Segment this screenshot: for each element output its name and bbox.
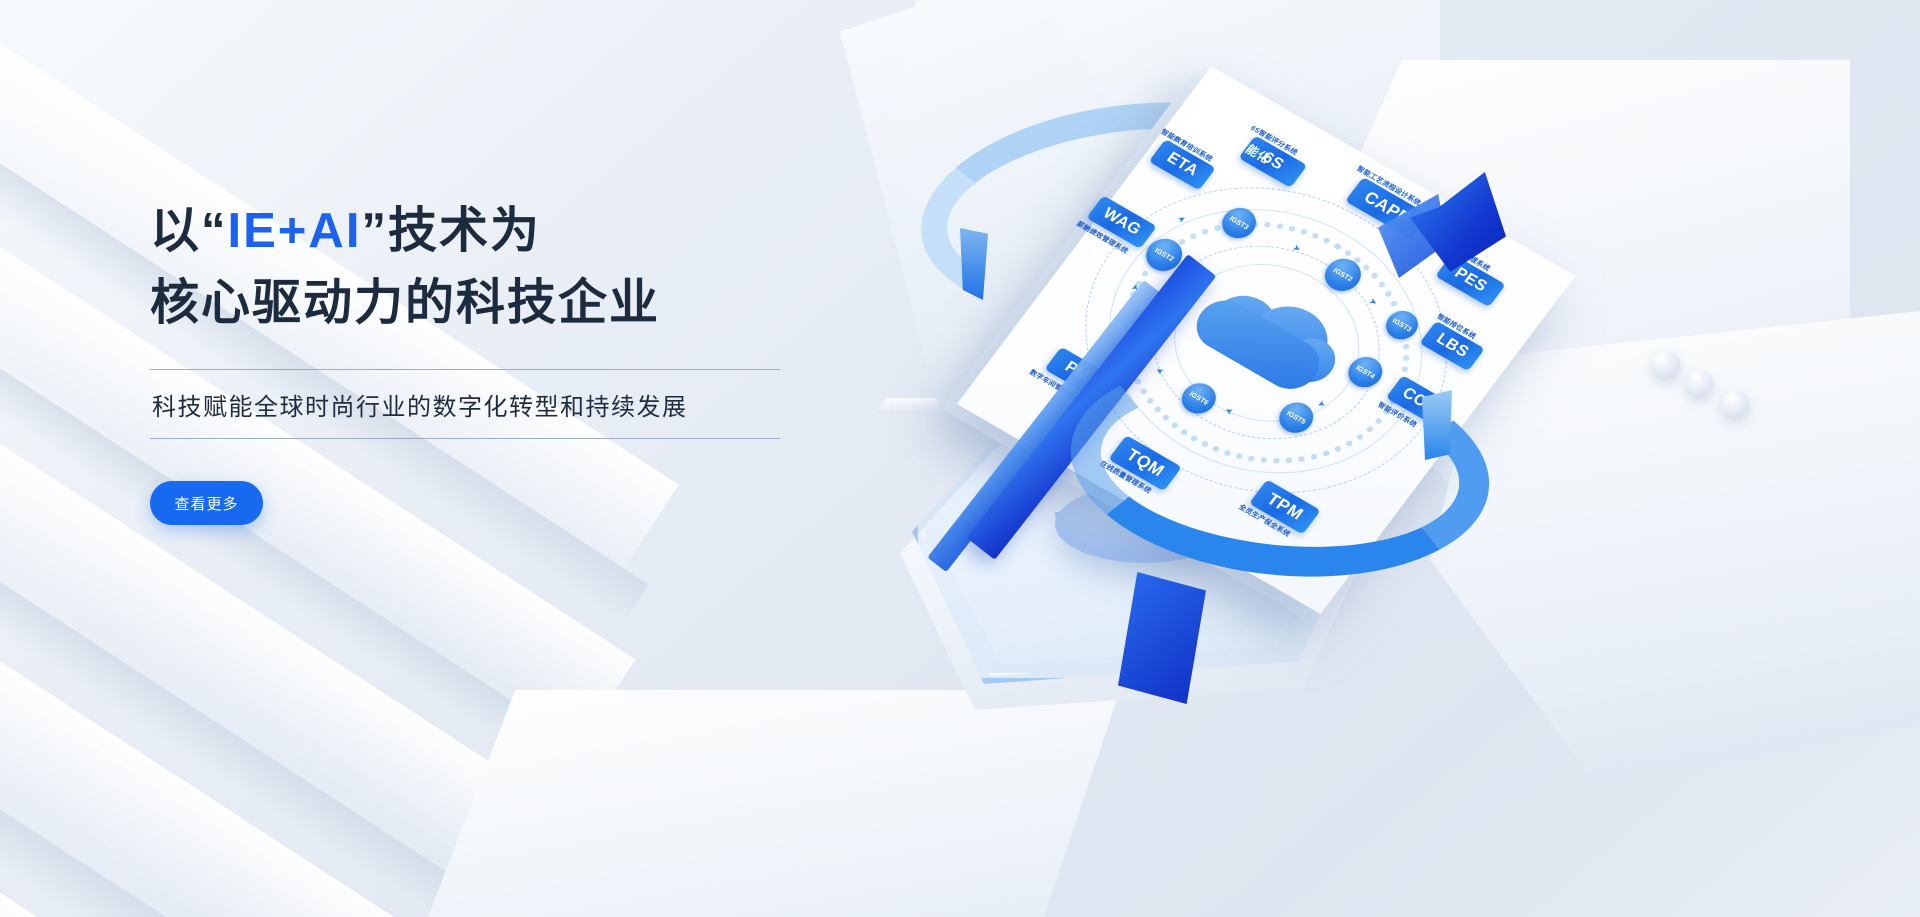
hero-illustration: IE智能化 IGST1 IGST2 IGST3 IGST4 IGST5 IGST… [860, 60, 1920, 760]
headline-prefix: 以 [150, 204, 201, 258]
subtitle-divider-bottom [150, 438, 780, 439]
headline-quote-open: “ [201, 204, 228, 258]
page-title-line-2: 核心驱动力的科技企业 [150, 268, 810, 340]
headline-accent: IE+AI [228, 204, 362, 258]
headline-quote-close: ” [361, 204, 388, 258]
ribbon-front-cap-icon [1422, 390, 1452, 460]
hero-copy: 以“IE+AI”技术为 核心驱动力的科技企业 科技赋能全球时尚行业的数字化转型和… [150, 196, 810, 525]
subtitle-divider-top [150, 369, 780, 370]
headline-suffix: 技术为 [388, 204, 541, 258]
view-more-button[interactable]: 查看更多 [150, 481, 263, 525]
page-title-line-1: 以“IE+AI”技术为 [150, 196, 810, 268]
page-subtitle: 科技赋能全球时尚行业的数字化转型和持续发展 [150, 370, 810, 438]
